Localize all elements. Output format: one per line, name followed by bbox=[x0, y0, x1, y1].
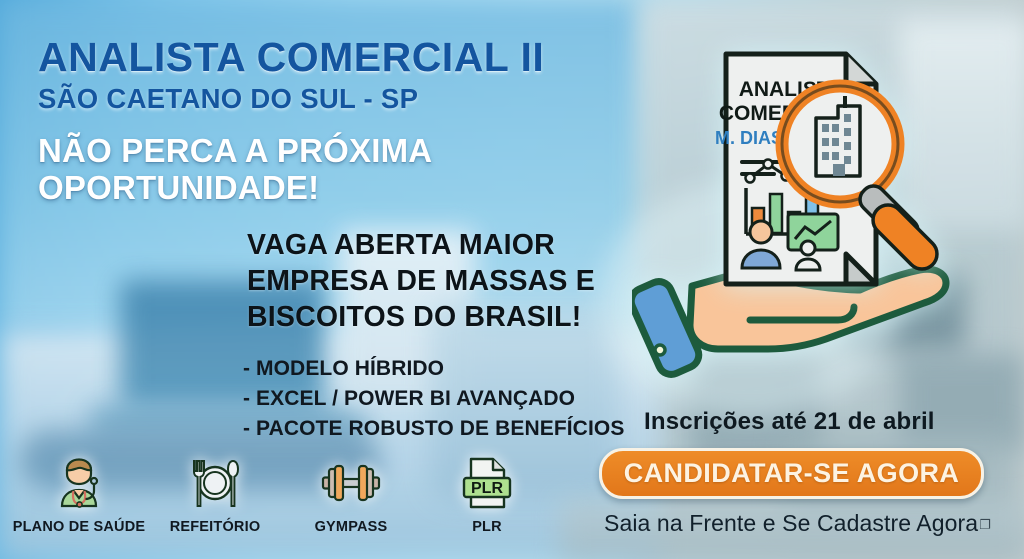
doctor-icon bbox=[47, 452, 111, 514]
application-deadline: Inscrições até 21 de abril bbox=[644, 408, 935, 436]
promo-heading: NÃO PERCA A PRÓXIMA OPORTUNIDADE! bbox=[38, 133, 432, 207]
perks-row: PLANO DE SAÚDE REFEITÓRIO bbox=[18, 452, 548, 535]
cta-tagline: Saia na Frente e Se Cadastre Agora❐ bbox=[604, 510, 991, 537]
cutlery-icon bbox=[183, 452, 247, 514]
cta-tagline-text: Saia na Frente e Se Cadastre Agora bbox=[604, 510, 978, 536]
page-title: ANALISTA COMERCIAL II bbox=[38, 34, 544, 81]
plr-file-icon: PLR bbox=[455, 452, 519, 514]
pitch-line-3: BISCOITOS DO BRASIL! bbox=[247, 299, 595, 335]
pitch-line-2: EMPRESA DE MASSAS E bbox=[247, 263, 595, 299]
dumbbell-icon bbox=[319, 452, 383, 514]
perk-gympass: GYMPASS bbox=[290, 452, 412, 535]
perk-label: GYMPASS bbox=[315, 519, 388, 535]
apply-now-label: CANDIDATAR-SE AGORA bbox=[624, 458, 960, 489]
apply-now-button[interactable]: CANDIDATAR-SE AGORA bbox=[599, 448, 984, 499]
list-item: - EXCEL / POWER BI AVANÇADO bbox=[243, 384, 624, 414]
pitch-heading: VAGA ABERTA MAIOR EMPRESA DE MASSAS E BI… bbox=[247, 227, 595, 336]
pitch-line-1: VAGA ABERTA MAIOR bbox=[247, 227, 595, 263]
perk-plr: PLR PLR bbox=[426, 452, 548, 535]
job-document-illustration: ANALISTA COMERCIAL II M. DIAS BRANCO bbox=[636, 36, 976, 356]
job-ad-banner: ANALISTA COMERCIAL II SÃO CAETANO DO SUL… bbox=[0, 0, 1024, 559]
perk-plano-de-saude: PLANO DE SAÚDE bbox=[18, 452, 140, 535]
perk-label: REFEITÓRIO bbox=[170, 519, 261, 535]
watermark-icon: ❐ bbox=[979, 517, 991, 532]
location-subtitle: SÃO CAETANO DO SUL - SP bbox=[38, 83, 418, 115]
promo-line-1: NÃO PERCA A PRÓXIMA bbox=[38, 133, 432, 170]
svg-text:PLR: PLR bbox=[471, 480, 503, 497]
promo-line-2: OPORTUNIDADE! bbox=[38, 170, 432, 207]
benefits-list: - MODELO HÍBRIDO - EXCEL / POWER BI AVAN… bbox=[243, 354, 624, 443]
list-item: - MODELO HÍBRIDO bbox=[243, 354, 624, 384]
perk-label: PLANO DE SAÚDE bbox=[13, 519, 146, 535]
list-item: - PACOTE ROBUSTO DE BENEFÍCIOS bbox=[243, 414, 624, 444]
perk-refeitorio: REFEITÓRIO bbox=[154, 452, 276, 535]
perk-label: PLR bbox=[472, 519, 502, 535]
